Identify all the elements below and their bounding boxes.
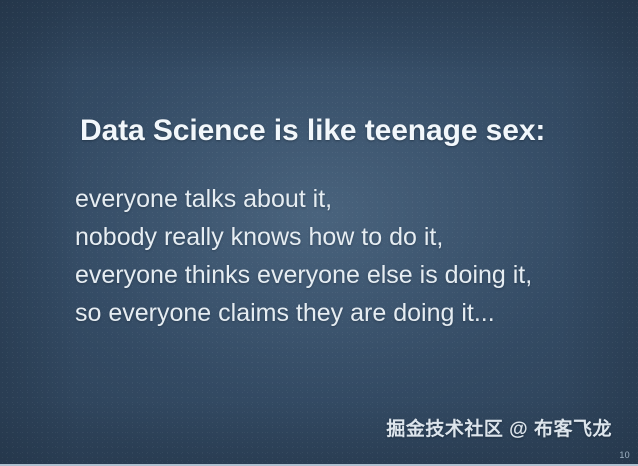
page-number: 10	[619, 450, 630, 460]
body-line: everyone thinks everyone else is doing i…	[75, 256, 595, 294]
presentation-slide: Data Science is like teenage sex: everyo…	[0, 0, 638, 466]
body-line: everyone talks about it,	[75, 180, 595, 218]
slide-body-text: everyone talks about it, nobody really k…	[75, 180, 595, 332]
watermark: 掘金技术社区 @ 布客飞龙	[386, 414, 612, 441]
slide-title: Data Science is like teenage sex:	[80, 114, 545, 148]
body-line: nobody really knows how to do it,	[75, 218, 595, 256]
slide-content: Data Science is like teenage sex: everyo…	[0, 0, 638, 466]
body-line: so everyone claims they are doing it...	[75, 294, 595, 332]
